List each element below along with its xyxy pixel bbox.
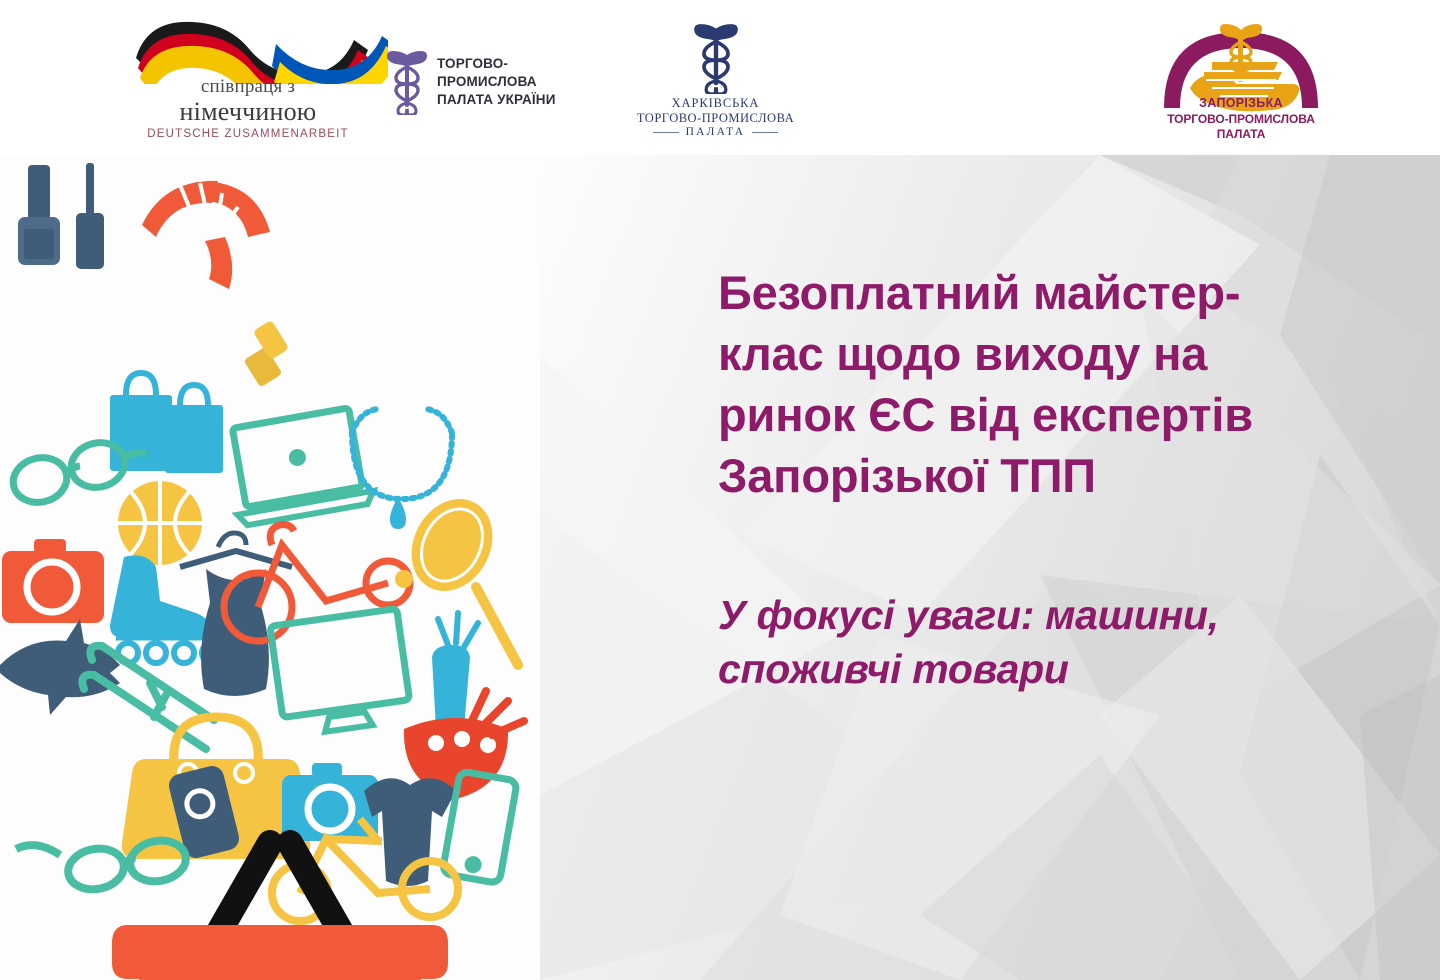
logo-zp-line2: ТОРГОВО-ПРОМИСЛОВА ПАЛАТА — [1146, 112, 1336, 142]
german-ukrainian-flag-ribbon-icon — [128, 14, 388, 84]
logo-kh-line3: ПАЛАТА — [628, 126, 803, 139]
logo-de-line1: співпраця з — [138, 76, 358, 98]
slide-text-block: Безоплатний майстер-клас щодо виходу на … — [718, 262, 1318, 697]
logo-ua-line2: ПАЛАТА УКРАЇНИ — [437, 91, 601, 109]
winged-caduceus-icon — [386, 49, 428, 115]
logo-chamber-zaporizhzhia: ЗАПОРІЗЬКА ТОРГОВО-ПРОМИСЛОВА ПАЛАТА — [1146, 16, 1336, 136]
winged-caduceus-icon — [687, 22, 745, 94]
logo-kh-line2: ТОРГОВО-ПРОМИСЛОВА — [628, 111, 803, 126]
logo-zp-line1: ЗАПОРІЗЬКА — [1146, 96, 1336, 112]
logo-de-line2: німеччиною — [138, 98, 358, 125]
logo-ua-line1: ТОРГОВО-ПРОМИСЛОВА — [437, 55, 601, 91]
logo-chamber-kharkiv: ХАРКІВСЬКА ТОРГОВО-ПРОМИСЛОВА ПАЛАТА — [628, 22, 803, 142]
basketball-icon — [118, 481, 202, 565]
shopping-goods-collage — [0, 155, 540, 980]
camera-icon — [2, 539, 104, 623]
page-subtitle: У фокусі уваги: машини, споживчі товари — [718, 588, 1318, 696]
shopping-basket-icon — [112, 925, 448, 980]
logo-kh-line1: ХАРКІВСЬКА — [628, 96, 803, 111]
page-title: Безоплатний майстер-клас щодо виходу на … — [718, 262, 1318, 506]
logo-german-cooperation: співпраця з німеччиною DEUTSCHE ZUSAMMEN… — [128, 14, 388, 134]
logo-chamber-ukraine: ТОРГОВО-ПРОМИСЛОВА ПАЛАТА УКРАЇНИ — [386, 47, 601, 117]
logo-de-line3: DEUTSCHE ZUSAMMENARBEIT — [138, 128, 358, 140]
logo-bar: співпраця з німеччиною DEUTSCHE ZUSAMMEN… — [0, 0, 1440, 155]
presentation-slide: Безоплатний майстер-клас щодо виходу на … — [0, 0, 1440, 980]
